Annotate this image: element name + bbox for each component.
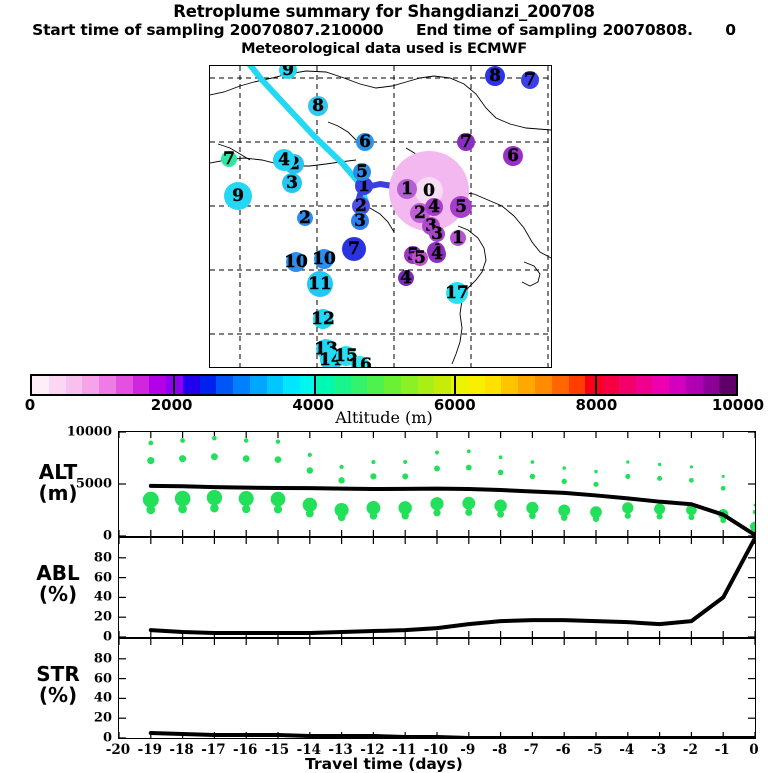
colorbar-segment — [401, 376, 418, 394]
colorbar-segment — [569, 376, 586, 394]
map-cluster-label: 1 — [452, 228, 464, 248]
colorbar-segment — [468, 376, 485, 394]
colorbar-segment — [49, 376, 66, 394]
coastline-paths — [210, 71, 551, 364]
colorbar-segment — [99, 376, 116, 394]
ytick-label: 40 — [94, 691, 112, 706]
map-cluster-label: 11 — [308, 274, 332, 294]
altitude-panel — [118, 431, 756, 537]
map-cluster-label: 10 — [284, 252, 308, 272]
map-cluster-label: 4 — [278, 150, 290, 170]
colorbar-divider — [173, 376, 175, 394]
ytick-label: 60 — [94, 671, 112, 686]
map-cluster-label: 4 — [400, 268, 412, 288]
abl-ytick-labels: 806040200 — [66, 538, 112, 637]
map-panel: 0112233445566777788991010111213141516172… — [209, 65, 552, 368]
map-cluster-label: 1 — [401, 179, 413, 199]
colorbar-segment — [434, 376, 451, 394]
map-cluster-label: 16 — [348, 355, 372, 368]
map-cluster-label: 17 — [445, 283, 469, 303]
colorbar-segment — [686, 376, 703, 394]
colorbar-segment — [585, 376, 602, 394]
map-cluster-label: 6 — [507, 146, 519, 166]
ytick-label: 20 — [94, 711, 112, 726]
str-ytick-labels: 806040200 — [66, 639, 112, 738]
map-cluster-label: 10 — [312, 249, 336, 269]
colorbar-segment — [233, 376, 250, 394]
colorbar-segment — [518, 376, 535, 394]
map-cluster-label: 9 — [282, 65, 294, 80]
map-cluster-label: 8 — [312, 96, 324, 116]
map-cluster-label: 4 — [428, 197, 440, 217]
colorbar-divider — [595, 376, 597, 394]
map-cluster-label: 3 — [354, 211, 366, 231]
start-time-label: Start time of sampling 20070807.210000 — [32, 21, 383, 39]
colorbar-segment — [535, 376, 552, 394]
colorbar-segment — [216, 376, 233, 394]
page-title: Retroplume summary for Shangdianzi_20070… — [0, 2, 768, 21]
colorbar-segment — [317, 376, 334, 394]
end-time-label: End time of sampling 20070808. — [416, 21, 693, 39]
colorbar-segment — [267, 376, 284, 394]
colorbar-segment — [66, 376, 83, 394]
ytick-label: 10000 — [67, 425, 112, 440]
ytick-label: 40 — [94, 590, 112, 605]
ytick-label: 5000 — [76, 477, 112, 492]
map-gridlines — [210, 66, 551, 367]
map-cluster-label: 3 — [286, 173, 298, 193]
map-cluster-label: 6 — [359, 132, 371, 152]
colorbar-segment — [552, 376, 569, 394]
colorbar-segment — [602, 376, 619, 394]
colorbar-divider — [454, 376, 456, 394]
end-time-value: 0 — [725, 21, 736, 39]
colorbar-segment — [32, 376, 49, 394]
met-data-label: Meteorological data used is ECMWF — [0, 40, 768, 58]
ytick-label: 80 — [94, 651, 112, 666]
colorbar-segment — [636, 376, 653, 394]
str-plot — [119, 639, 755, 738]
colorbar-segment — [133, 376, 150, 394]
colorbar-segment — [619, 376, 636, 394]
colorbar-segment — [669, 376, 686, 394]
colorbar-segment — [351, 376, 368, 394]
title-block: Retroplume summary for Shangdianzi_20070… — [0, 2, 768, 58]
abl-panel — [118, 537, 756, 638]
alt-ytick-labels: 1000050000 — [66, 432, 112, 536]
map-cluster-label: 5 — [356, 162, 368, 182]
map-cluster-label: 7 — [348, 239, 360, 259]
altitude-plot — [119, 432, 755, 536]
map-cluster-label: 7 — [524, 70, 536, 90]
colorbar-segment — [652, 376, 669, 394]
str-panel — [118, 638, 756, 739]
colorbar-segment — [149, 376, 166, 394]
colorbar-segment — [183, 376, 200, 394]
colorbar-segment — [116, 376, 133, 394]
colorbar-divider — [314, 376, 316, 394]
colorbar-segment — [250, 376, 267, 394]
retroplume-figure: Retroplume summary for Shangdianzi_20070… — [0, 0, 768, 768]
colorbar-segment — [703, 376, 720, 394]
map-cluster-label: 2 — [299, 208, 311, 228]
colorbar-segment — [501, 376, 518, 394]
colorbar-segment — [82, 376, 99, 394]
colorbar-segment — [200, 376, 217, 394]
map-cluster-label: 8 — [489, 66, 501, 86]
map-cluster-label: 9 — [232, 186, 244, 206]
map-cluster-label: 3 — [431, 224, 443, 244]
colorbar-segment — [367, 376, 384, 394]
sampling-time-line: Start time of sampling 20070807.210000 E… — [0, 21, 768, 40]
colorbar-segment — [334, 376, 351, 394]
colorbar-segment — [384, 376, 401, 394]
colorbar-segment — [283, 376, 300, 394]
colorbar-segment — [719, 376, 736, 394]
map-cluster-label: 7 — [223, 149, 235, 169]
abl-plot — [119, 538, 755, 637]
ytick-label: 20 — [94, 610, 112, 625]
ytick-label: 60 — [94, 570, 112, 585]
map-cluster-label: 12 — [311, 309, 335, 329]
colorbar-title: Altitude (m) — [0, 408, 768, 427]
map-cluster-label: 5 — [455, 197, 467, 217]
xaxis-title: Travel time (days) — [0, 755, 768, 773]
ytick-label: 80 — [94, 550, 112, 565]
colorbar-segment — [418, 376, 435, 394]
map-cluster-label: 7 — [460, 132, 472, 152]
map-svg — [210, 66, 551, 367]
colorbar-segment — [485, 376, 502, 394]
map-cluster-label: 4 — [431, 244, 443, 264]
altitude-colorbar — [30, 374, 738, 396]
map-cluster-label: 5 — [414, 248, 426, 268]
